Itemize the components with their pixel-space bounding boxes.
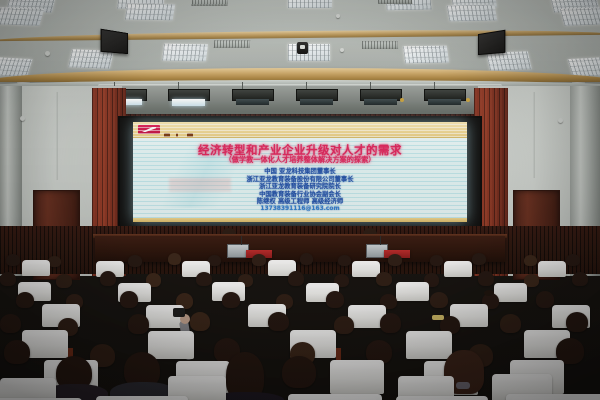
attendee-head [6, 254, 20, 266]
camera [173, 308, 185, 317]
logo-mark-icon [142, 127, 156, 132]
sprinkler-head [340, 48, 344, 52]
attendee-head [300, 253, 313, 265]
microphone [380, 236, 381, 245]
ceiling-vent [192, 0, 229, 6]
attendee-head [16, 292, 34, 308]
stage-light-lens [172, 99, 205, 106]
light-adjust-knob [466, 98, 470, 102]
attendee-head [56, 274, 72, 288]
right-wall-conduit [533, 92, 535, 178]
audience-chair[interactable] [406, 331, 452, 359]
ceiling-light-panel [288, 0, 332, 8]
slide-body-line: 中国 亚龙科技集团董事长 [133, 168, 467, 176]
slide-contact-email: 13738391116@163.com [133, 206, 467, 214]
attendee-head [566, 312, 588, 332]
company-logo [138, 125, 160, 134]
slide-subtitle: （做学教一体化人才培养整体解决方案的探索） [133, 155, 467, 165]
ceiling-speaker [101, 29, 128, 54]
ceiling-light-panel [125, 4, 175, 21]
audience-chair[interactable] [148, 331, 194, 359]
ceiling-vent [378, 0, 413, 4]
audience-chair[interactable] [506, 394, 600, 400]
attendee-head [478, 271, 494, 286]
attendee-head [536, 291, 554, 308]
audience-chair[interactable] [0, 378, 56, 400]
ceiling-light-panel [560, 7, 600, 26]
attendee-head [338, 255, 351, 266]
attendee-head [500, 314, 521, 333]
audience-chair[interactable] [22, 260, 50, 276]
attendee-head [128, 314, 149, 334]
audience-seating [0, 252, 600, 400]
stage-light-lens [300, 99, 333, 105]
attendee-head [380, 313, 401, 333]
ceiling-light-panel [486, 51, 532, 70]
attendee-head [334, 316, 354, 334]
ceiling-light-panel [447, 5, 498, 22]
conference-hall-photo: 经济转型和产业企业升级对人才的需求 （做学教一体化人才培养整体解决方案的探索） … [0, 0, 600, 400]
audience-chair[interactable] [396, 396, 488, 400]
attendee-head [190, 312, 210, 331]
audience-chair[interactable] [96, 396, 188, 400]
attendee-head [196, 272, 212, 286]
hair-bun [484, 290, 494, 296]
attendee-head [430, 292, 448, 308]
attendee-head [100, 271, 116, 286]
sprinkler-head [20, 116, 25, 121]
ceiling-light-panel [288, 44, 330, 61]
ceiling-light-panel [162, 44, 208, 62]
attendee-head [376, 272, 392, 286]
hair-clip [432, 315, 444, 320]
attendee-head [282, 356, 316, 388]
projection-screen: 经济转型和产业企业升级对人才的需求 （做学教一体化人才培养整体解决方案的探索） … [120, 118, 480, 226]
ceiling-light-panel [403, 46, 449, 64]
ceiling-vent [214, 40, 251, 48]
stage-light-lens [364, 99, 397, 105]
sprinkler-head [45, 51, 50, 56]
slide-body-line: 浙江亚龙教育装备研究院院长 [133, 183, 467, 191]
slide-body-line: 陈继权 高级工程师 高级经济师 [133, 198, 467, 206]
presentation-slide: 经济转型和产业企业升级对人才的需求 （做学教一体化人才培养整体解决方案的探索） … [133, 122, 467, 222]
ceiling-vent [362, 41, 398, 49]
attendee-head [388, 254, 402, 266]
left-wall-conduit [56, 92, 58, 180]
attendee-head [472, 253, 486, 265]
attendee-head [252, 254, 266, 266]
hair-tie [456, 382, 470, 389]
attendee-head [326, 291, 344, 308]
slide-header-band [133, 122, 467, 138]
audience-chair[interactable] [444, 261, 472, 277]
ceiling-speaker [478, 30, 505, 55]
audience-chair[interactable] [352, 261, 380, 277]
attendee-head [222, 292, 240, 308]
attendee-head [120, 291, 138, 308]
audience-chair[interactable] [538, 261, 566, 277]
slide-body-text: 中国 亚龙科技集团董事长 浙江亚龙教育装备股份有限公司董事长 浙江亚龙教育装备研… [133, 168, 467, 214]
slide-footer-band [133, 218, 467, 222]
microphone [241, 236, 242, 245]
stage-light-lens [428, 99, 461, 105]
stage-light-truss [100, 86, 500, 114]
attendee-head [128, 255, 142, 267]
attendee-head [4, 340, 30, 364]
attendee-head [268, 312, 289, 331]
attendee-head [572, 272, 588, 286]
logo-wordmark [164, 124, 216, 135]
audience-chair[interactable] [330, 360, 384, 394]
attendee-head [168, 253, 181, 265]
attendee-head [566, 254, 580, 266]
audience-chair[interactable] [288, 394, 382, 400]
light-adjust-knob [400, 98, 404, 102]
sprinkler-head [336, 14, 340, 18]
ceiling-camera-lens [300, 45, 305, 49]
stage-light-lens [236, 99, 269, 105]
attendee-head [288, 271, 304, 286]
attendee-head [0, 272, 16, 286]
ceiling-light-panel [0, 7, 44, 26]
attendee-head [0, 314, 21, 333]
sprinkler-head [558, 118, 563, 123]
attendee-head [430, 255, 443, 266]
audience-chair[interactable] [396, 282, 429, 301]
ceiling-beam-far [0, 28, 600, 42]
attendee-head [524, 255, 537, 266]
